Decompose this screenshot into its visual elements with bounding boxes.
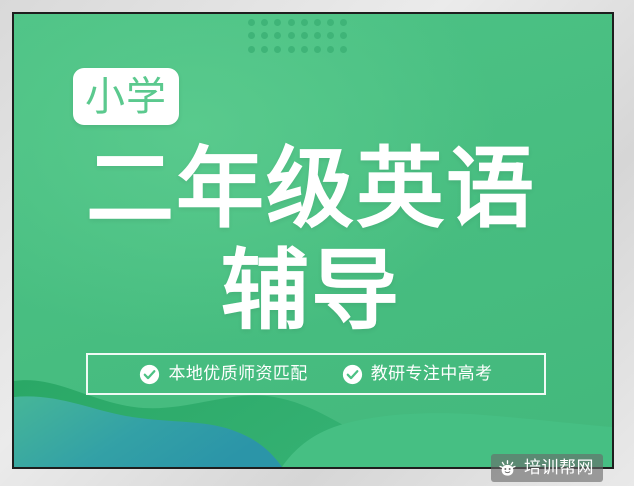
grid-dot (261, 32, 268, 39)
poster-card: 小学 二年级英语 辅导 本地优质师资匹配 教研专注中高考 (14, 14, 612, 467)
grid-dot (314, 19, 321, 26)
grid-dot (327, 32, 334, 39)
grid-dot (314, 32, 321, 39)
grid-dot (248, 19, 255, 26)
watermark-label: 培训帮网 (524, 459, 594, 478)
grade-level-badge: 小学 (73, 68, 179, 125)
site-watermark: 培训帮网 (491, 454, 603, 482)
headline-line-2: 辅导 (14, 240, 612, 342)
grid-dot (288, 32, 295, 39)
grid-dot (327, 46, 334, 53)
check-circle-icon (139, 364, 160, 385)
feature-list: 本地优质师资匹配 教研专注中高考 (86, 353, 546, 395)
dot-grid-decoration (248, 19, 354, 59)
grid-dot (288, 19, 295, 26)
feature-item-2: 教研专注中高考 (342, 364, 493, 385)
grid-dot (340, 19, 347, 26)
grid-dot (340, 32, 347, 39)
sun-face-icon (498, 459, 517, 478)
grid-dot (274, 46, 281, 53)
grid-dot (301, 32, 308, 39)
grid-dot (301, 46, 308, 53)
feature-item-1: 本地优质师资匹配 (139, 364, 307, 385)
check-circle-icon (342, 364, 363, 385)
poster-headline: 二年级英语 辅导 (14, 138, 612, 342)
feature-label-2: 教研专注中高考 (371, 364, 493, 385)
grid-dot (301, 19, 308, 26)
grid-dot (288, 46, 295, 53)
grid-dot (314, 46, 321, 53)
grid-dot (261, 46, 268, 53)
headline-line-1: 二年级英语 (14, 138, 612, 240)
grid-dot (340, 46, 347, 53)
grid-dot (248, 32, 255, 39)
feature-label-1: 本地优质师资匹配 (168, 364, 307, 385)
badge-label: 小学 (85, 77, 167, 117)
grid-dot (327, 19, 334, 26)
grid-dot (274, 19, 281, 26)
grid-dot (274, 32, 281, 39)
grid-dot (261, 19, 268, 26)
wave-layer-teal (14, 396, 282, 467)
grid-dot (248, 46, 255, 53)
poster-root: 小学 二年级英语 辅导 本地优质师资匹配 教研专注中高考 (0, 0, 634, 486)
